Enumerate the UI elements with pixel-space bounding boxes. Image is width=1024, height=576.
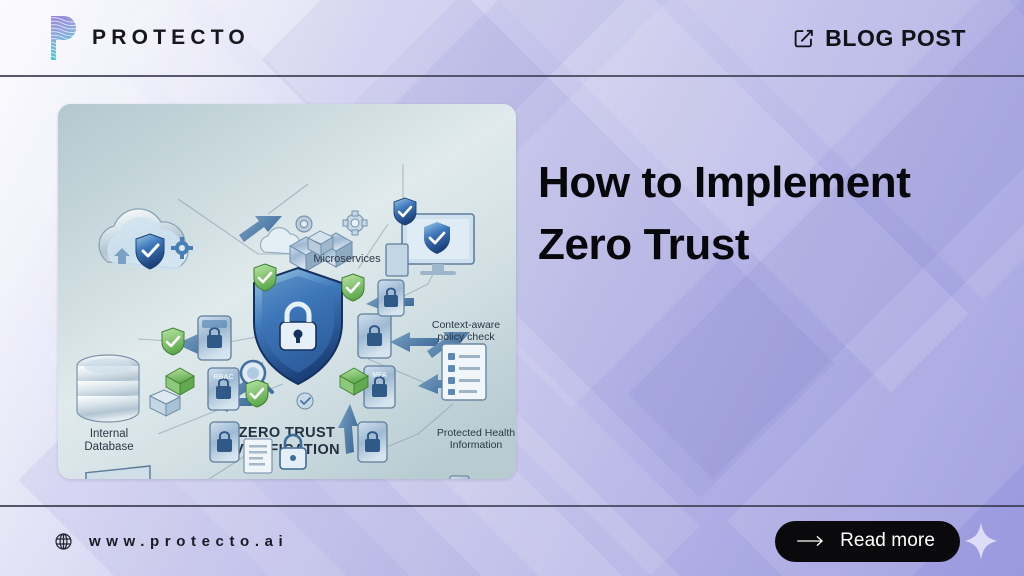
cta-area: Read more [775, 521, 998, 562]
hero-label-microservices-top: Microservices [313, 253, 381, 265]
blog-post-banner: PROTECTO BLOG POST [0, 0, 1024, 576]
hero-label-context-aware-top-1: Context-aware [432, 319, 500, 331]
header: PROTECTO BLOG POST [0, 0, 1024, 76]
blog-post-badge: BLOG POST [793, 25, 966, 52]
read-more-label: Read more [840, 530, 935, 552]
protecto-fingerprint-p-logo-icon [48, 15, 78, 61]
edit-square-pencil-icon [793, 28, 814, 49]
hero-label-context-aware-top-2: policy check [437, 331, 495, 343]
website-url-text: www.protecto.ai [89, 533, 288, 550]
read-more-button[interactable]: Read more [775, 521, 960, 562]
page-title-line1: How to Implement [538, 152, 1008, 214]
brand-name: PROTECTO [92, 26, 250, 50]
arrow-right-icon [797, 535, 824, 547]
footer: www.protecto.ai Read more [0, 506, 1024, 576]
hero-tag-mfa: MFA [372, 372, 387, 379]
hero-label-phi-1: Protected Health [437, 427, 515, 439]
globe-icon [54, 532, 73, 551]
hero-label-internal-database-1: Internal [90, 428, 128, 440]
hero-tag-rbac: RBAC [213, 374, 233, 381]
hero-label-internal-database-2: Database [84, 441, 133, 453]
page-title: How to Implement Zero Trust [538, 152, 1008, 277]
brand-logo[interactable]: PROTECTO [48, 15, 250, 61]
hero-image: ZERO TRUST VERIFICATION Internal Databas… [58, 104, 516, 479]
page-title-line2: Zero Trust [538, 214, 1008, 276]
sparkle-star-icon [964, 522, 998, 560]
hero-label-phi-2: Information [450, 439, 503, 451]
blog-post-badge-label: BLOG POST [825, 25, 966, 52]
website-url[interactable]: www.protecto.ai [54, 532, 288, 551]
zero-trust-architecture-diagram-icon: ZERO TRUST VERIFICATION Internal Databas… [58, 104, 516, 479]
